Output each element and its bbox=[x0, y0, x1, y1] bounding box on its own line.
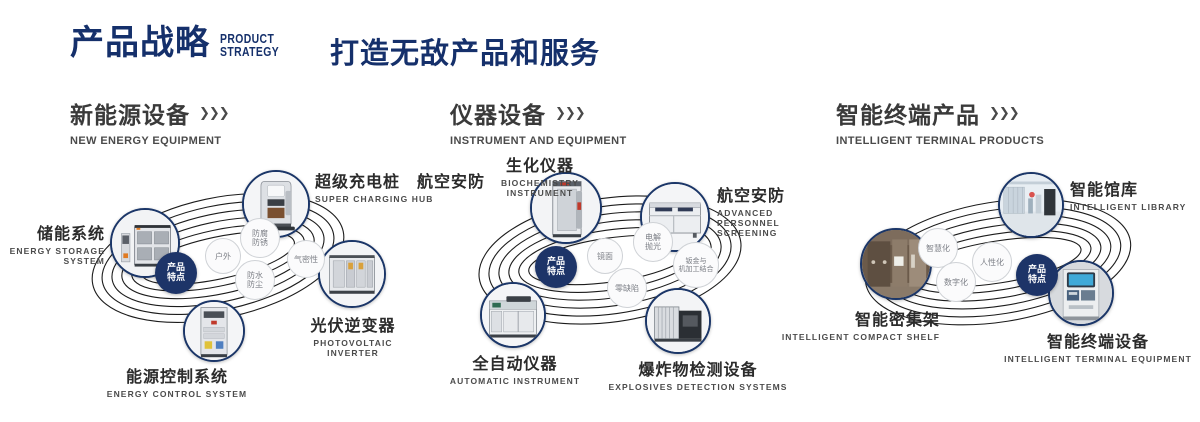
feature-line1: 钣金与 bbox=[679, 257, 714, 265]
label-cn: 智能密集架 bbox=[780, 306, 940, 330]
auto-analyzer-icon bbox=[482, 284, 544, 346]
feature-bubble: 镜面 bbox=[587, 238, 623, 274]
section-title-cn: 仪器设备 bbox=[450, 96, 546, 130]
feature-line1: 防腐 bbox=[252, 229, 268, 238]
label-cn: 全自动仪器 bbox=[430, 350, 600, 374]
self-service-kiosk-icon bbox=[1050, 262, 1112, 324]
diagram-instrument: 生化仪器 BIOCHEMISTRY INSTRUMENT 航空安防 航空安防 A bbox=[435, 160, 815, 360]
feature-bubble: 人性化 bbox=[972, 242, 1012, 282]
node-automatic-instrument[interactable] bbox=[480, 282, 546, 348]
label-cn: 生化仪器 bbox=[480, 152, 600, 176]
feature-line1: 零缺陷 bbox=[615, 284, 639, 293]
label-energy-storage-system: 储能系统 ENERGY STORAGE SYSTEM bbox=[5, 220, 105, 266]
label-en: INTELLIGENT LIBRARY bbox=[1070, 202, 1200, 212]
page-title-cn: 产品战略 bbox=[70, 26, 210, 60]
feature-line1: 镜面 bbox=[597, 252, 613, 261]
label-photovoltaic-inverter: 光伏逆变器 PHOTOVOLTAIC INVERTER bbox=[287, 312, 419, 358]
label-cn: 光伏逆变器 bbox=[287, 312, 419, 336]
section-title-new-energy: 新能源设备 ❯❯❯ NEW ENERGY EQUIPMENT bbox=[70, 96, 229, 147]
feature-line1: 气密性 bbox=[294, 255, 318, 264]
pv-inverter-icon bbox=[320, 242, 384, 306]
label-advanced-personnel-screening-overlay: 航空安防 bbox=[375, 168, 485, 192]
feature-bubble: 户外 bbox=[205, 238, 241, 274]
feature-bubble: 零缺陷 bbox=[607, 268, 647, 308]
label-en: ENERGY STORAGE SYSTEM bbox=[5, 246, 105, 266]
node-photovoltaic-inverter[interactable] bbox=[318, 240, 386, 308]
diagram-new-energy: 储能系统 ENERGY STORAGE SYSTEM 超级充电桩 SUPER C… bbox=[55, 160, 425, 360]
section-title-en: INTELLIGENT TERMINAL PRODUCTS bbox=[836, 135, 1044, 147]
label-automatic-instrument: 全自动仪器 AUTOMATIC INSTRUMENT bbox=[430, 350, 600, 386]
core-line2: 特点 bbox=[547, 267, 565, 277]
label-en: BIOCHEMISTRY INSTRUMENT bbox=[480, 178, 600, 198]
poster-canvas: 产品战略 PRODUCT STRATEGY 打造无敌产品和服务 新能源设备 ❯❯… bbox=[0, 0, 1200, 422]
chevron-right-icon: ❯❯❯ bbox=[555, 105, 585, 121]
label-cn: 智能终端设备 bbox=[998, 328, 1198, 352]
core-product-features[interactable]: 产品 特点 bbox=[155, 252, 197, 294]
core-product-features[interactable]: 产品 特点 bbox=[535, 246, 577, 288]
section-title-cn: 智能终端产品 bbox=[836, 96, 980, 130]
label-intelligent-library: 智能馆库 INTELLIGENT LIBRARY bbox=[1070, 176, 1200, 212]
label-advanced-personnel-screening: 航空安防 ADVANCED PERSONNEL SCREENING bbox=[717, 182, 827, 238]
section-title-intelligent-terminal: 智能终端产品 ❯❯❯ INTELLIGENT TERMINAL PRODUCTS bbox=[836, 96, 1044, 147]
feature-line1: 人性化 bbox=[980, 258, 1004, 267]
feature-bubble: 钣金与 机加工结合 bbox=[673, 242, 719, 288]
label-en: ENERGY CONTROL SYSTEM bbox=[87, 389, 267, 399]
feature-line1: 户外 bbox=[215, 252, 231, 261]
label-explosives-detection: 爆炸物检测设备 EXPLOSIVES DETECTION SYSTEMS bbox=[603, 356, 793, 392]
feature-line1: 智慧化 bbox=[926, 244, 950, 253]
feature-line2: 防尘 bbox=[247, 280, 263, 289]
feature-bubble: 防水 防尘 bbox=[235, 260, 275, 300]
diagram-intelligent-terminal: 智能馆库 INTELLIGENT LIBRARY 智能密集架 INTELLIGE… bbox=[820, 170, 1200, 370]
control-cabinet-icon bbox=[185, 302, 243, 360]
label-en: INTELLIGENT COMPACT SHELF bbox=[780, 332, 940, 342]
core-line2: 特点 bbox=[1028, 275, 1046, 285]
label-energy-control-system: 能源控制系统 ENERGY CONTROL SYSTEM bbox=[87, 363, 267, 399]
label-cn: 爆炸物检测设备 bbox=[603, 356, 793, 380]
explosive-detector-icon bbox=[647, 290, 709, 352]
node-energy-control-system[interactable] bbox=[183, 300, 245, 362]
page-title: 产品战略 PRODUCT STRATEGY bbox=[70, 26, 294, 60]
label-intelligent-terminal-equipment: 智能终端设备 INTELLIGENT TERMINAL EQUIPMENT bbox=[998, 328, 1198, 364]
label-cn: 能源控制系统 bbox=[87, 363, 267, 387]
label-cn: 储能系统 bbox=[5, 220, 105, 244]
page-subtitle: 打造无敌产品和服务 bbox=[330, 30, 600, 72]
label-en: INTELLIGENT TERMINAL EQUIPMENT bbox=[998, 354, 1198, 364]
chevron-right-icon: ❯❯❯ bbox=[989, 105, 1019, 121]
node-explosives-detection[interactable] bbox=[645, 288, 711, 354]
core-product-features[interactable]: 产品 特点 bbox=[1016, 254, 1058, 296]
node-intelligent-terminal-equipment[interactable] bbox=[1048, 260, 1114, 326]
node-intelligent-library[interactable] bbox=[998, 172, 1064, 238]
feature-line2: 抛光 bbox=[645, 242, 661, 251]
label-intelligent-compact-shelf: 智能密集架 INTELLIGENT COMPACT SHELF bbox=[780, 306, 940, 342]
section-title-en: INSTRUMENT AND EQUIPMENT bbox=[450, 135, 627, 147]
section-title-en: NEW ENERGY EQUIPMENT bbox=[70, 135, 229, 147]
feature-line1: 数字化 bbox=[944, 278, 968, 287]
core-line1: 产品 bbox=[1028, 265, 1046, 275]
label-en: EXPLOSIVES DETECTION SYSTEMS bbox=[603, 382, 793, 392]
label-biochemistry-instrument: 生化仪器 BIOCHEMISTRY INSTRUMENT bbox=[480, 152, 600, 198]
label-en: SUPER CHARGING HUB bbox=[315, 194, 455, 204]
feature-bubble: 气密性 bbox=[287, 240, 325, 278]
feature-line2: 机加工结合 bbox=[679, 265, 714, 273]
feature-bubble: 数字化 bbox=[936, 262, 976, 302]
core-line1: 产品 bbox=[547, 257, 565, 267]
label-en: PHOTOVOLTAIC INVERTER bbox=[287, 338, 419, 358]
library-shelves-icon bbox=[1000, 174, 1062, 236]
section-title-instrument: 仪器设备 ❯❯❯ INSTRUMENT AND EQUIPMENT bbox=[450, 96, 627, 147]
label-en: AUTOMATIC INSTRUMENT bbox=[430, 376, 600, 386]
label-cn: 航空安防 bbox=[375, 168, 485, 192]
core-line2: 特点 bbox=[167, 273, 185, 283]
label-cn: 航空安防 bbox=[717, 182, 827, 206]
feature-bubble: 防腐 防锈 bbox=[240, 218, 280, 258]
page-title-en-line2: STRATEGY bbox=[220, 45, 279, 58]
feature-line1: 电解 bbox=[645, 233, 661, 242]
chevron-right-icon: ❯❯❯ bbox=[199, 105, 229, 121]
label-en: ADVANCED PERSONNEL SCREENING bbox=[717, 208, 827, 238]
feature-line2: 防锈 bbox=[252, 238, 268, 247]
label-cn: 智能馆库 bbox=[1070, 176, 1200, 200]
feature-line1: 防水 bbox=[247, 271, 263, 280]
core-line1: 产品 bbox=[167, 263, 185, 273]
page-title-en: PRODUCT STRATEGY bbox=[220, 32, 279, 58]
section-title-cn: 新能源设备 bbox=[70, 96, 190, 130]
feature-bubble: 电解 抛光 bbox=[633, 222, 673, 262]
